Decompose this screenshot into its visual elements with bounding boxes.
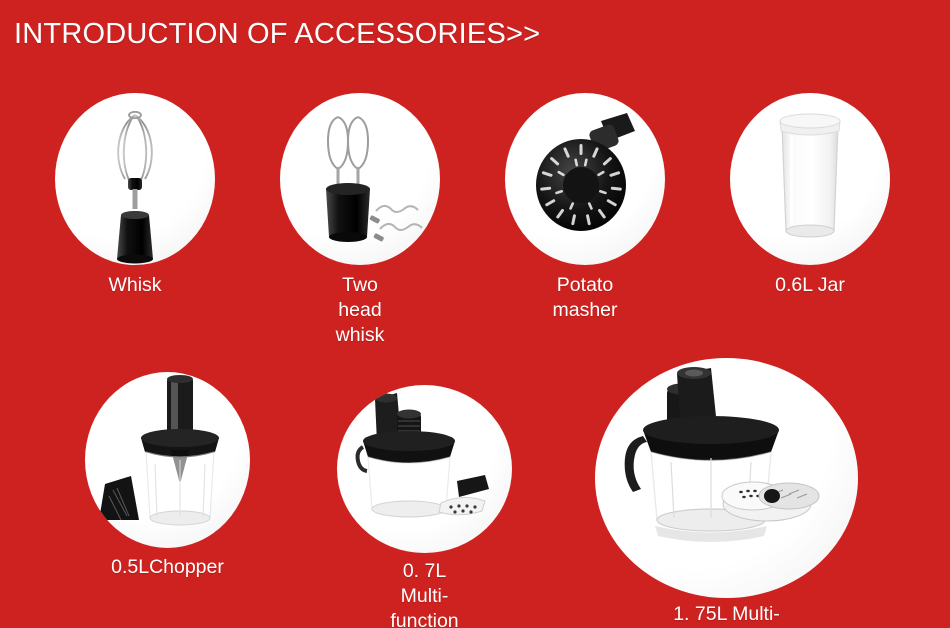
two-head-whisk-bubble [280, 93, 440, 265]
accessory-label: 0.5LChopper [111, 555, 224, 580]
whisk-bubble [55, 93, 215, 265]
potato-masher-icon [505, 93, 665, 265]
accessories-infographic: INTRODUCTION OF ACCESSORIES>> [0, 0, 950, 628]
chopper-175-bubble [595, 358, 858, 598]
accessory-item-two-head-whisk[interactable]: Two head whisk [280, 93, 440, 265]
chopper-bowl-icon [85, 372, 250, 548]
chopper-05-bubble [85, 372, 250, 548]
potato-masher-bubble [505, 93, 665, 265]
chopper-07-bubble [337, 385, 512, 553]
accessory-item-chopper-175[interactable]: 1. 75L Multi-function chopper [595, 358, 858, 598]
multifunction-chopper-icon [337, 385, 512, 553]
two-head-whisk-icon [280, 93, 440, 265]
jar-bubble [730, 93, 890, 265]
large-multifunction-chopper-icon [595, 358, 858, 598]
accessory-item-whisk[interactable]: Whisk [55, 93, 215, 265]
accessory-item-potato-masher[interactable]: Potato masher [505, 93, 665, 265]
accessory-label: 0.6L Jar [775, 273, 845, 298]
accessory-label: 1. 75L Multi-function chopper [661, 602, 793, 628]
accessory-label: Two head whisk [320, 273, 400, 348]
whisk-icon [55, 93, 215, 265]
measuring-jar-icon [730, 93, 890, 265]
accessory-item-chopper-05[interactable]: 0.5LChopper [85, 372, 250, 548]
accessory-item-jar[interactable]: 0.6L Jar [730, 93, 890, 265]
page-title: INTRODUCTION OF ACCESSORIES>> [14, 16, 540, 52]
accessory-label: Potato masher [545, 273, 625, 323]
accessory-label: Whisk [108, 273, 161, 298]
accessory-label: 0. 7L Multi-function chopper [381, 559, 469, 628]
accessory-item-chopper-07[interactable]: 0. 7L Multi-function chopper [337, 385, 512, 553]
